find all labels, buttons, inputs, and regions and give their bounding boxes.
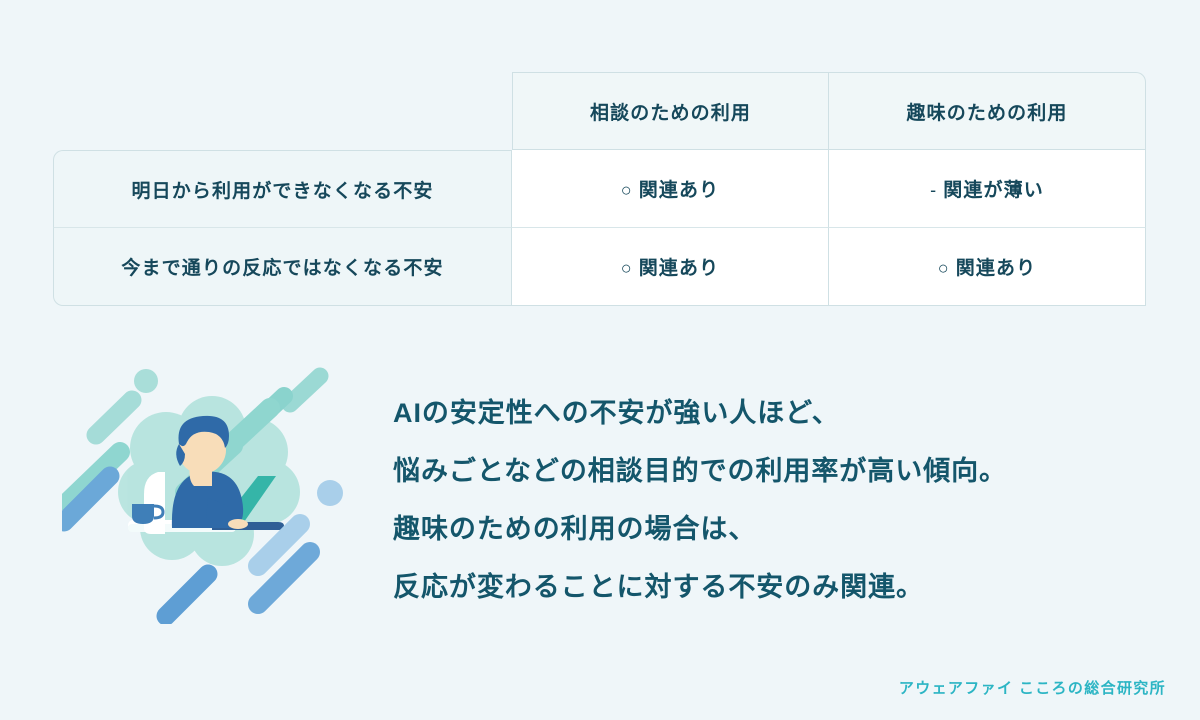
cell-row0-consult: ○関連あり [512,150,829,228]
statement-line-4: 反応が変わることに対する不安のみ関連。 [393,558,1153,616]
brand-footer: アウェアファイ こころの総合研究所 [899,677,1166,698]
comparison-table-container: 相談のための利用 趣味のための利用 明日から利用ができなくなる不安 ○関連あり … [53,72,1146,306]
relation-mark-icon: - [930,180,937,200]
table-row: 今まで通りの反応ではなくなる不安 ○関連あり ○関連あり [53,228,1146,306]
table-header-row: 相談のための利用 趣味のための利用 [53,72,1146,150]
table-row: 明日から利用ができなくなる不安 ○関連あり -関連が薄い [53,150,1146,228]
cell-text: 関連あり [956,258,1037,279]
table-body: 明日から利用ができなくなる不安 ○関連あり -関連が薄い 今まで通りの反応ではな… [53,150,1146,306]
statement-line-1: AIの安定性への不安が強い人ほど、 [393,384,1153,442]
comparison-table: 相談のための利用 趣味のための利用 明日から利用ができなくなる不安 ○関連あり … [53,72,1146,306]
relation-mark-icon: ○ [621,180,633,200]
column-header-consult: 相談のための利用 [512,72,829,150]
row-header-tomorrow-unavailable: 明日から利用ができなくなる不安 [53,150,512,228]
cell-text: 関連あり [639,180,720,201]
cell-text: 関連あり [639,258,720,279]
cell-row0-hobby: -関連が薄い [829,150,1146,228]
cell-row1-hobby: ○関連あり [829,228,1146,306]
cell-text: 関連が薄い [943,180,1044,201]
statement-line-2: 悩みごとなどの相談目的での利用率が高い傾向。 [393,442,1153,500]
table-header: 相談のための利用 趣味のための利用 [53,72,1146,150]
statement-line-3: 趣味のための利用の場合は、 [393,500,1153,558]
relation-mark-icon: ○ [938,258,950,278]
table-corner-cell [53,72,512,150]
row-header-response-change: 今まで通りの反応ではなくなる不安 [53,228,512,306]
summary-statement: AIの安定性への不安が強い人ほど、 悩みごとなどの相談目的での利用率が高い傾向。… [393,384,1153,616]
person-at-laptop-illustration [62,352,362,624]
relation-mark-icon: ○ [621,258,633,278]
column-header-hobby: 趣味のための利用 [829,72,1146,150]
cell-row1-consult: ○関連あり [512,228,829,306]
